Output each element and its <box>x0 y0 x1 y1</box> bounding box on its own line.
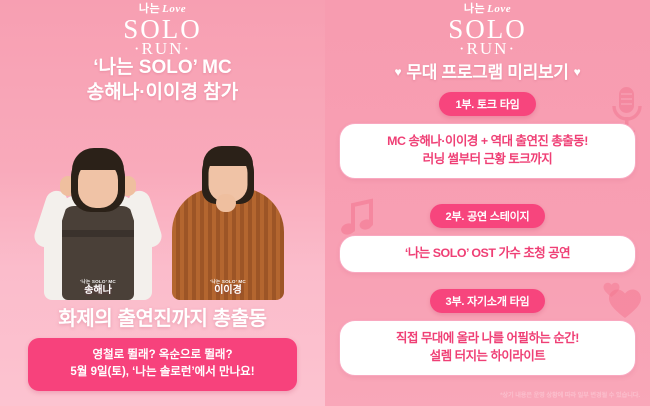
program-item-2: 2부. 공연 스테이지 ‘나는 SOLO’ OST 가수 초청 공연 <box>325 204 650 273</box>
right-panel: 나는Love SOLO ·RUN· ♥무대 프로그램 미리보기♥ <box>325 0 650 406</box>
cta-banner[interactable]: 영철로 뛸래? 옥순으로 뛸래? 5월 9일(토), ‘나는 솔로런’에서 만나… <box>28 338 297 391</box>
program-2-card: ‘나는 SOLO’ OST 가수 초청 공연 <box>339 235 636 273</box>
program-3-line-1: 직접 무대에 올라 나를 어필하는 순간! <box>348 330 627 348</box>
program-item-3: 3부. 자기소개 타임 직접 무대에 올라 나를 어필하는 순간! 설렘 터지는… <box>325 289 650 376</box>
program-3-badge: 3부. 자기소개 타임 <box>430 289 546 313</box>
cast-1-role: ‘나는 SOLO’ MC <box>38 280 158 285</box>
program-1-badge: 1부. 토크 타임 <box>439 92 535 116</box>
program-section-title: ♥무대 프로그램 미리보기♥ <box>325 58 650 83</box>
program-section-title-text: 무대 프로그램 미리보기 <box>406 63 568 82</box>
person1-bangs <box>72 148 124 170</box>
program-3-card: 직접 무대에 올라 나를 어필하는 순간! 설렘 터지는 하이라이트 <box>339 320 636 376</box>
cta-line-2: 5월 9일(토), ‘나는 솔로런’에서 만나요! <box>34 364 291 381</box>
cast-2-name: 이이경 <box>168 286 288 297</box>
brand-logo-right: 나는Love SOLO ·RUN· <box>325 4 650 57</box>
program-item-1: 1부. 토크 타임 MC 송해나·이이경 + 역대 출연진 총출동! 러닝 썰부… <box>325 92 650 179</box>
left-subheadline: 화제의 출연진까지 총출동 <box>0 302 325 331</box>
person2-bangs <box>203 146 253 166</box>
program-1-line-1: MC 송해나·이이경 + 역대 출연진 총출동! <box>348 133 627 151</box>
cast-1-label: ‘나는 SOLO’ MC 송해나 <box>38 280 158 296</box>
page-title: ‘나는 SOLO’ MC 송해나·이이경 참가 <box>0 55 325 105</box>
heart-icon-left: ♥ <box>395 65 402 79</box>
headline-line-1: ‘나는 SOLO’ MC <box>0 55 325 80</box>
cast-photo-1: ‘나는 SOLO’ MC 송해나 <box>38 110 158 300</box>
headline-line-2-text: 송해나·이이경 참가 <box>87 82 238 103</box>
program-1-card: MC 송해나·이이경 + 역대 출연진 총출동! 러닝 썰부터 근황 토크까지 <box>339 123 636 179</box>
left-panel: 나는Love SOLO ·RUN· ‘나는 SOLO’ MC 송해나·이이경 참… <box>0 0 325 406</box>
program-3-line-2: 설렘 터지는 하이라이트 <box>348 348 627 366</box>
headline-line-2: 송해나·이이경 참가 <box>87 80 238 105</box>
program-1-line-2: 러닝 썰부터 근황 토크까지 <box>348 151 627 169</box>
cast-2-role: ‘나는 SOLO’ MC <box>168 280 288 285</box>
cast-photo-2: ‘나는 SOLO’ MC 이이경 <box>168 110 288 300</box>
cta-line-1: 영철로 뛸래? 옥순으로 뛸래? <box>34 347 291 364</box>
logo-run-text-right: ·RUN· <box>325 40 650 57</box>
brand-logo: 나는Love SOLO ·RUN· <box>0 4 325 57</box>
cast-1-name: 송해나 <box>38 286 158 297</box>
person2-hand <box>216 194 236 212</box>
program-2-badge: 2부. 공연 스테이지 <box>430 204 546 228</box>
promo-poster: 나는Love SOLO ·RUN· ‘나는 SOLO’ MC 송해나·이이경 참… <box>0 0 650 406</box>
cast-2-label: ‘나는 SOLO’ MC 이이경 <box>168 280 288 296</box>
program-2-line-1: ‘나는 SOLO’ OST 가수 초청 공연 <box>348 245 627 263</box>
footnote-disclaimer: *상기 내용은 운영 상황에 따라 일부 변경될 수 있습니다. <box>500 390 640 399</box>
heart-icon-right: ♥ <box>574 65 581 79</box>
cast-photos: ‘나는 SOLO’ MC 송해나 ‘나는 SOLO’ MC 이이경 <box>0 108 325 300</box>
